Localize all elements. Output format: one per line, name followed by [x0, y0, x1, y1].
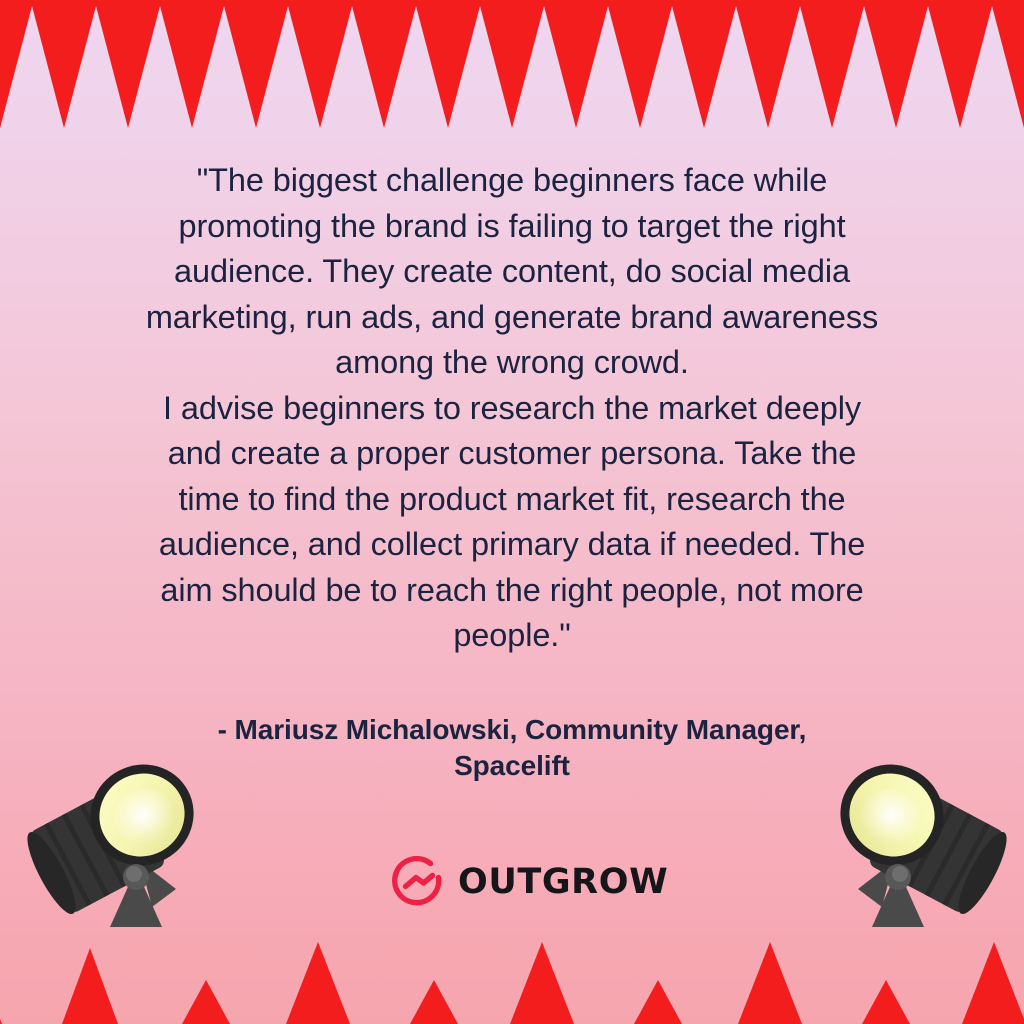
spotlight-icon: [812, 757, 1010, 935]
quote-line: promoting the brand is failing to target…: [78, 204, 946, 250]
outgrow-wordmark: OUTGROW: [458, 865, 668, 900]
quote-line: people.": [78, 613, 946, 659]
quote-line: I advise beginners to research the marke…: [78, 386, 946, 432]
quote-line: aim should be to reach the right people,…: [78, 568, 946, 614]
quote-line: and create a proper customer persona. Ta…: [78, 431, 946, 477]
outgrow-logo[interactable]: OUTGROW: [392, 852, 640, 912]
quote-card: "The biggest challenge beginners face wh…: [0, 0, 1024, 1024]
quote-line: audience, and collect primary data if ne…: [78, 522, 946, 568]
quote-line: among the wrong crowd.: [78, 340, 946, 386]
outgrow-mark-icon: [392, 856, 444, 908]
quote-line: time to find the product market fit, res…: [78, 477, 946, 523]
quote-line: marketing, run ads, and generate brand a…: [78, 295, 946, 341]
spotlight-icon: [24, 757, 222, 935]
quote-text: "The biggest challenge beginners face wh…: [78, 158, 946, 659]
quote-line: "The biggest challenge beginners face wh…: [78, 158, 946, 204]
quote-line: audience. They create content, do social…: [78, 249, 946, 295]
top-zigzag-border: [0, 0, 1024, 128]
attribution-line: - Mariusz Michalowski, Community Manager…: [92, 712, 932, 748]
